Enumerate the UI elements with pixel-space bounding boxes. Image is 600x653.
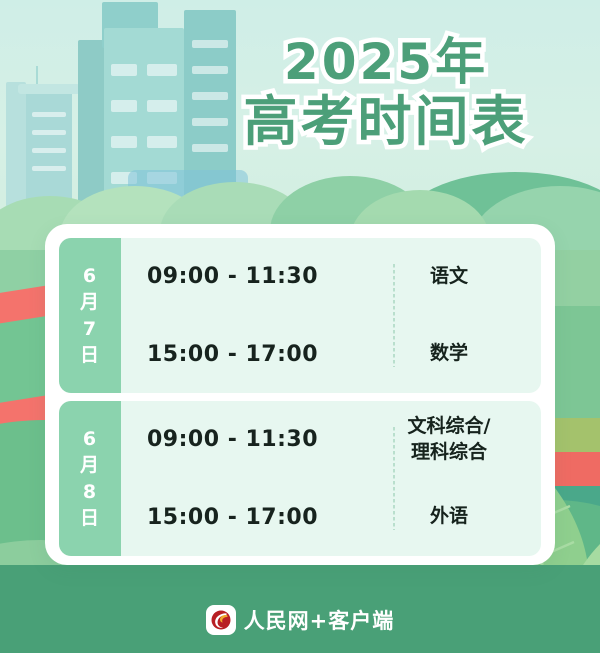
exam-time: 15:00 - 17:00 (121, 505, 371, 530)
exam-slot: 15:00 - 17:00 外语 (121, 479, 541, 557)
date-char: 7 (83, 317, 97, 341)
exam-subject: 文科综合/ 理科综合 (371, 414, 541, 465)
window (32, 166, 66, 171)
date-char: 日 (80, 506, 100, 530)
date-char: 6 (83, 264, 97, 288)
window (111, 100, 137, 112)
date-char: 6 (83, 427, 97, 451)
exam-slot: 09:00 - 11:30 语文 (121, 238, 541, 316)
exam-subject: 外语 (371, 504, 541, 530)
date-char: 月 (80, 290, 100, 314)
title-line-year: 2025年 (196, 36, 576, 88)
window (147, 136, 177, 148)
title-line-subject: 高考时间表 (196, 94, 576, 150)
exam-time: 09:00 - 11:30 (121, 427, 371, 452)
schedule-row: 6 月 8 日 09:00 - 11:30 文科综合/ 理科综合 15:00 -… (59, 401, 541, 556)
window (32, 148, 66, 153)
slot-list: 09:00 - 11:30 语文 15:00 - 17:00 数学 (121, 238, 541, 393)
exam-slot: 09:00 - 11:30 文科综合/ 理科综合 (121, 401, 541, 479)
people-daily-logo-icon (206, 605, 236, 635)
building-left-roof (18, 84, 80, 94)
building-left-small (6, 82, 26, 210)
date-band: 6 月 8 日 (59, 401, 121, 556)
dotted-divider (393, 427, 395, 530)
footer-brand: 人民网+客户端 (0, 605, 600, 635)
exam-time: 09:00 - 11:30 (121, 264, 371, 289)
building-left (26, 90, 72, 210)
exam-slot: 15:00 - 17:00 数学 (121, 316, 541, 394)
exam-time: 15:00 - 17:00 (121, 342, 371, 367)
poster-canvas: 2025年 高考时间表 6 月 7 日 09:00 - 11:30 语文 15:… (0, 0, 600, 653)
exam-subject: 数学 (371, 341, 541, 367)
window (32, 130, 66, 135)
window (32, 112, 66, 117)
date-char: 月 (80, 453, 100, 477)
window (147, 100, 177, 112)
date-char: 日 (80, 343, 100, 367)
window (111, 136, 137, 148)
slot-list: 09:00 - 11:30 文科综合/ 理科综合 15:00 - 17:00 外… (121, 401, 541, 556)
schedule-row: 6 月 7 日 09:00 - 11:30 语文 15:00 - 17:00 数… (59, 238, 541, 393)
dotted-divider (393, 264, 395, 367)
date-band: 6 月 7 日 (59, 238, 121, 393)
window (111, 64, 137, 76)
schedule-card: 6 月 7 日 09:00 - 11:30 语文 15:00 - 17:00 数… (45, 224, 555, 565)
poster-title: 2025年 高考时间表 (196, 36, 576, 150)
window (147, 64, 177, 76)
date-char: 8 (83, 480, 97, 504)
footer-brand-text: 人民网+客户端 (244, 605, 395, 635)
exam-subject: 语文 (371, 264, 541, 290)
